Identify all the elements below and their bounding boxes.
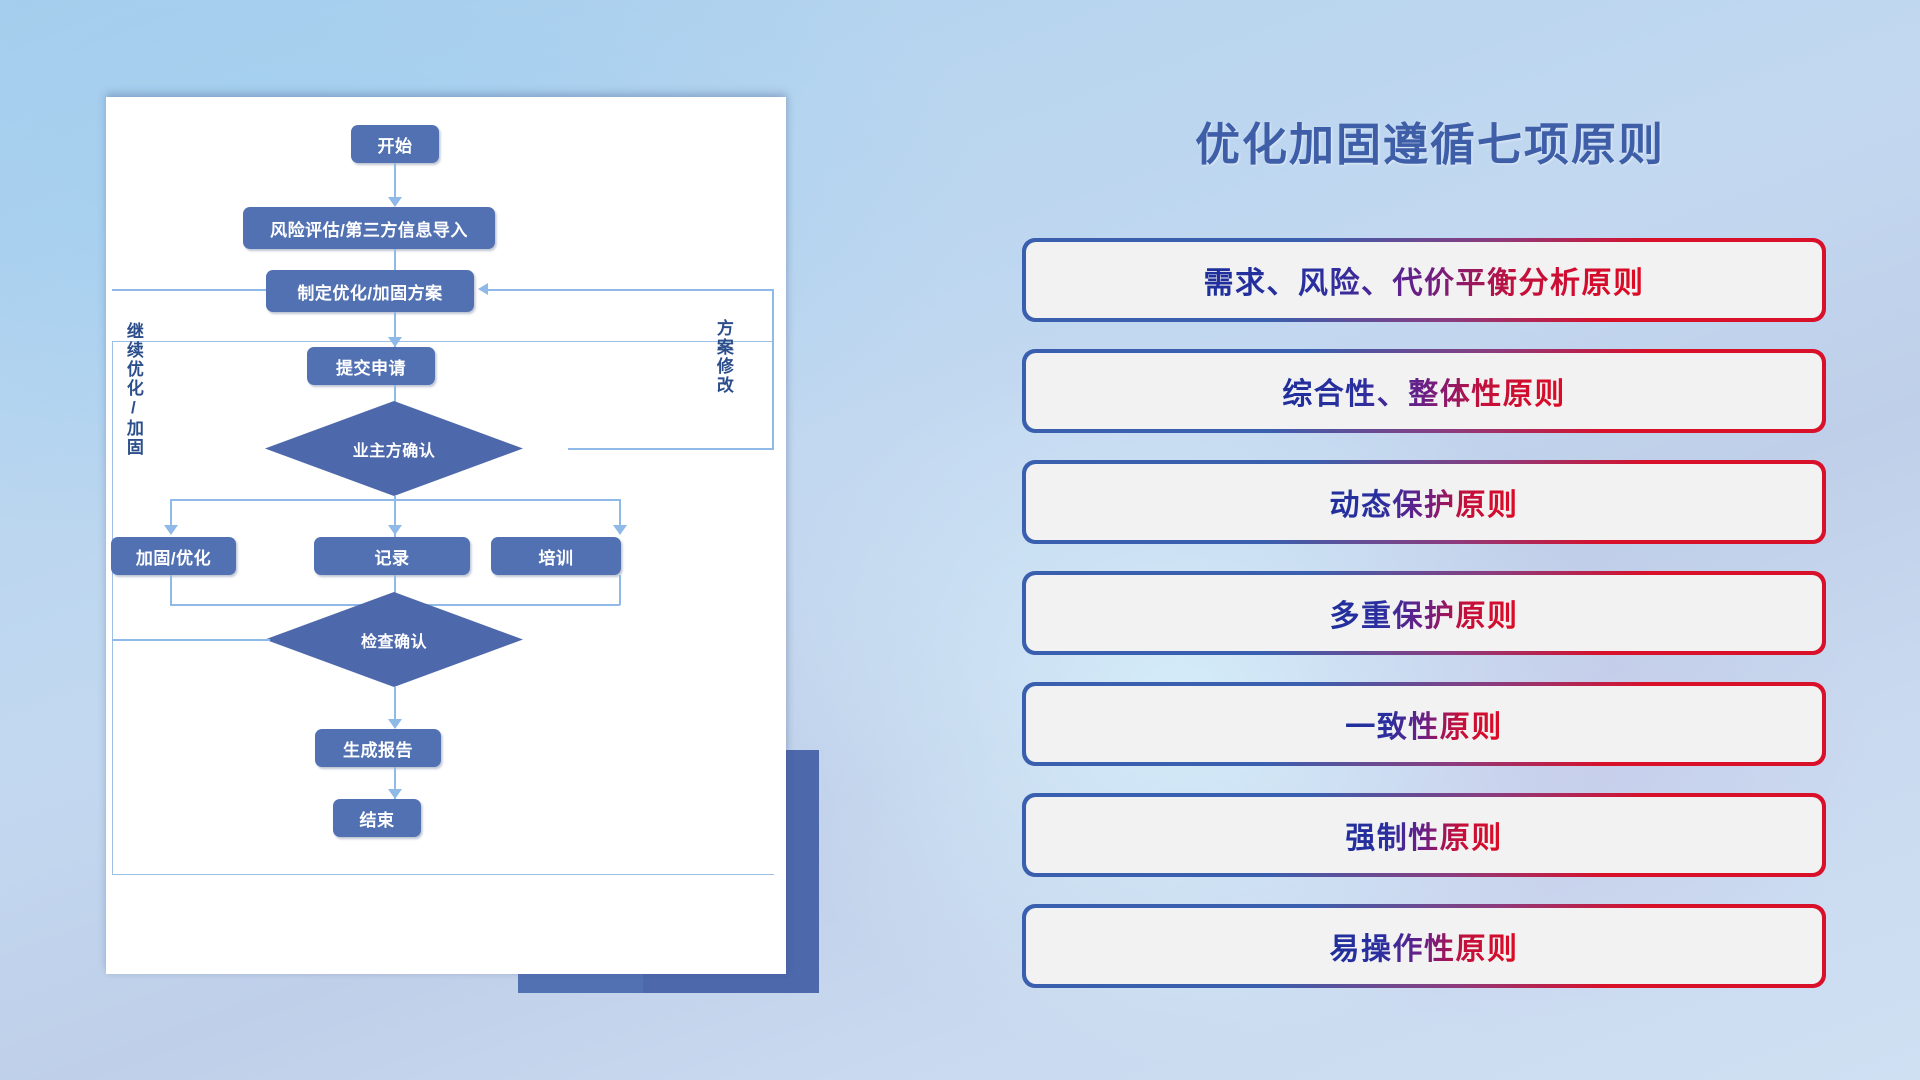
arrow-check-report bbox=[388, 719, 402, 729]
label-plan-modify: 方案修改 bbox=[714, 319, 732, 395]
principle-card-7[interactable]: 易操作性原则 bbox=[1024, 906, 1824, 986]
principle-card-3[interactable]: 动态保护原则 bbox=[1024, 462, 1824, 542]
arrow-report-end bbox=[388, 789, 402, 799]
principle-card-2[interactable]: 综合性、整体性原则 bbox=[1024, 351, 1824, 431]
flowchart-card: 开始 风险评估/第三方信息导入 制定优化/加固方案 提交申请 bbox=[106, 97, 786, 974]
principle-label: 强制性原则 bbox=[1345, 813, 1503, 857]
slide-root: 开始 风险评估/第三方信息导入 制定优化/加固方案 提交申请 bbox=[0, 0, 1920, 1080]
conn-reinforce-down bbox=[170, 575, 172, 605]
arrow-plan-submit bbox=[388, 337, 402, 347]
loop-arrow-into-plan bbox=[478, 283, 488, 295]
node-report[interactable]: 生成报告 bbox=[315, 729, 441, 767]
arrow-to-record bbox=[388, 525, 402, 535]
flowchart-canvas: 开始 风险评估/第三方信息导入 制定优化/加固方案 提交申请 bbox=[106, 97, 786, 974]
node-submit[interactable]: 提交申请 bbox=[307, 347, 435, 385]
principle-card-inner: 需求、风险、代价平衡分析原则 bbox=[1026, 242, 1822, 318]
node-check-label: 检查确认 bbox=[361, 628, 427, 652]
loop-line-right-top bbox=[578, 289, 774, 291]
principle-card-inner: 动态保护原则 bbox=[1026, 464, 1822, 540]
principle-card-1[interactable]: 需求、风险、代价平衡分析原则 bbox=[1024, 240, 1824, 320]
node-risk-assessment[interactable]: 风险评估/第三方信息导入 bbox=[243, 207, 495, 249]
node-train[interactable]: 培训 bbox=[491, 537, 621, 575]
node-owner-label: 业主方确认 bbox=[353, 437, 436, 461]
panel-title: 优化加固遵循七项原则 bbox=[1020, 108, 1840, 173]
arrow-start-risk bbox=[388, 197, 402, 207]
node-risk-label: 风险评估/第三方信息导入 bbox=[270, 216, 468, 241]
loop-line-right-vert bbox=[772, 289, 774, 449]
principle-card-inner: 多重保护原则 bbox=[1026, 575, 1822, 651]
principle-label: 一致性原则 bbox=[1345, 702, 1503, 746]
loop-line-right-in bbox=[488, 289, 580, 291]
node-owner-confirm[interactable]: 业主方确认 bbox=[265, 401, 523, 496]
node-plan[interactable]: 制定优化/加固方案 bbox=[266, 270, 474, 312]
node-report-label: 生成报告 bbox=[343, 736, 413, 761]
principle-card-6[interactable]: 强制性原则 bbox=[1024, 795, 1824, 875]
principle-card-inner: 易操作性原则 bbox=[1026, 908, 1822, 984]
arrow-to-reinforce bbox=[164, 525, 178, 535]
node-train-label: 培训 bbox=[539, 544, 574, 569]
loop-line-right-bottom bbox=[568, 448, 774, 450]
node-end-label: 结束 bbox=[360, 806, 395, 831]
principle-card-5[interactable]: 一致性原则 bbox=[1024, 684, 1824, 764]
node-record[interactable]: 记录 bbox=[314, 537, 470, 575]
principle-card-4[interactable]: 多重保护原则 bbox=[1024, 573, 1824, 653]
node-plan-label: 制定优化/加固方案 bbox=[297, 279, 442, 304]
principle-card-inner: 强制性原则 bbox=[1026, 797, 1822, 873]
node-start-label: 开始 bbox=[378, 132, 413, 157]
principles-panel: 优化加固遵循七项原则 需求、风险、代价平衡分析原则 综合性、整体性原则 动态保护… bbox=[1020, 0, 1840, 1080]
conn-train-down bbox=[619, 575, 621, 605]
loop-line-left-top bbox=[112, 289, 278, 291]
principle-card-inner: 一致性原则 bbox=[1026, 686, 1822, 762]
principle-label: 多重保护原则 bbox=[1330, 591, 1519, 635]
node-reinforce-label: 加固/优化 bbox=[136, 544, 211, 569]
principles-card-list: 需求、风险、代价平衡分析原则 综合性、整体性原则 动态保护原则 多重保护原则 bbox=[1024, 240, 1824, 1017]
node-start[interactable]: 开始 bbox=[351, 125, 439, 163]
node-submit-label: 提交申请 bbox=[336, 354, 406, 379]
conn-check-loopback bbox=[112, 639, 270, 641]
conn-owner-fanout bbox=[170, 499, 620, 501]
node-reinforce[interactable]: 加固/优化 bbox=[111, 537, 236, 575]
principle-label: 综合性、整体性原则 bbox=[1282, 369, 1566, 413]
node-check-confirm[interactable]: 检查确认 bbox=[265, 592, 523, 687]
node-end[interactable]: 结束 bbox=[333, 799, 421, 837]
principle-label: 易操作性原则 bbox=[1330, 924, 1519, 968]
node-record-label: 记录 bbox=[375, 544, 410, 569]
principle-label: 需求、风险、代价平衡分析原则 bbox=[1204, 258, 1645, 302]
arrow-to-train bbox=[613, 525, 627, 535]
label-continue-optimize: 继续优化/加固 bbox=[124, 322, 142, 457]
principle-card-inner: 综合性、整体性原则 bbox=[1026, 353, 1822, 429]
principle-label: 动态保护原则 bbox=[1330, 480, 1519, 524]
